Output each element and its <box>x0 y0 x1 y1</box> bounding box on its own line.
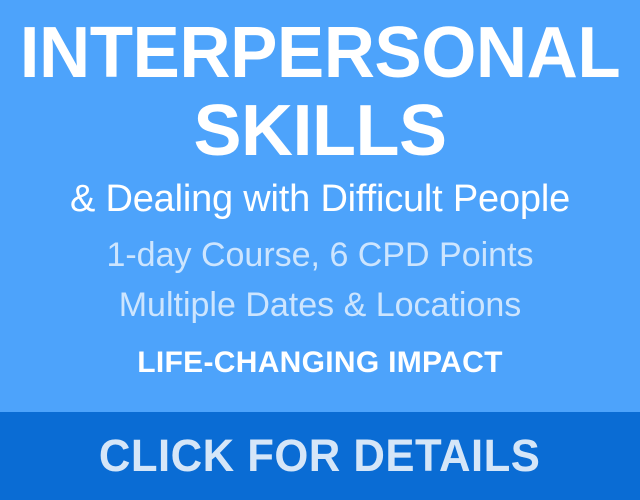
headline-line-1: INTERPERSONAL <box>19 14 622 92</box>
detail-dates-locations: Multiple Dates & Locations <box>14 282 626 328</box>
headline-block: INTERPERSONAL SKILLS <box>14 14 626 170</box>
cta-button-label: CLICK FOR DETAILS <box>99 431 540 481</box>
advertisement-banner[interactable]: INTERPERSONAL SKILLS & Dealing with Diff… <box>0 0 640 500</box>
detail-course-duration: 1-day Course, 6 CPD Points <box>14 232 626 278</box>
ad-content-area: INTERPERSONAL SKILLS & Dealing with Diff… <box>0 0 640 412</box>
cta-button[interactable]: CLICK FOR DETAILS <box>0 412 640 500</box>
subheadline: & Dealing with Difficult People <box>14 174 626 224</box>
impact-tagline: LIFE-CHANGING IMPACT <box>14 344 626 382</box>
headline-line-2: SKILLS <box>14 92 626 170</box>
